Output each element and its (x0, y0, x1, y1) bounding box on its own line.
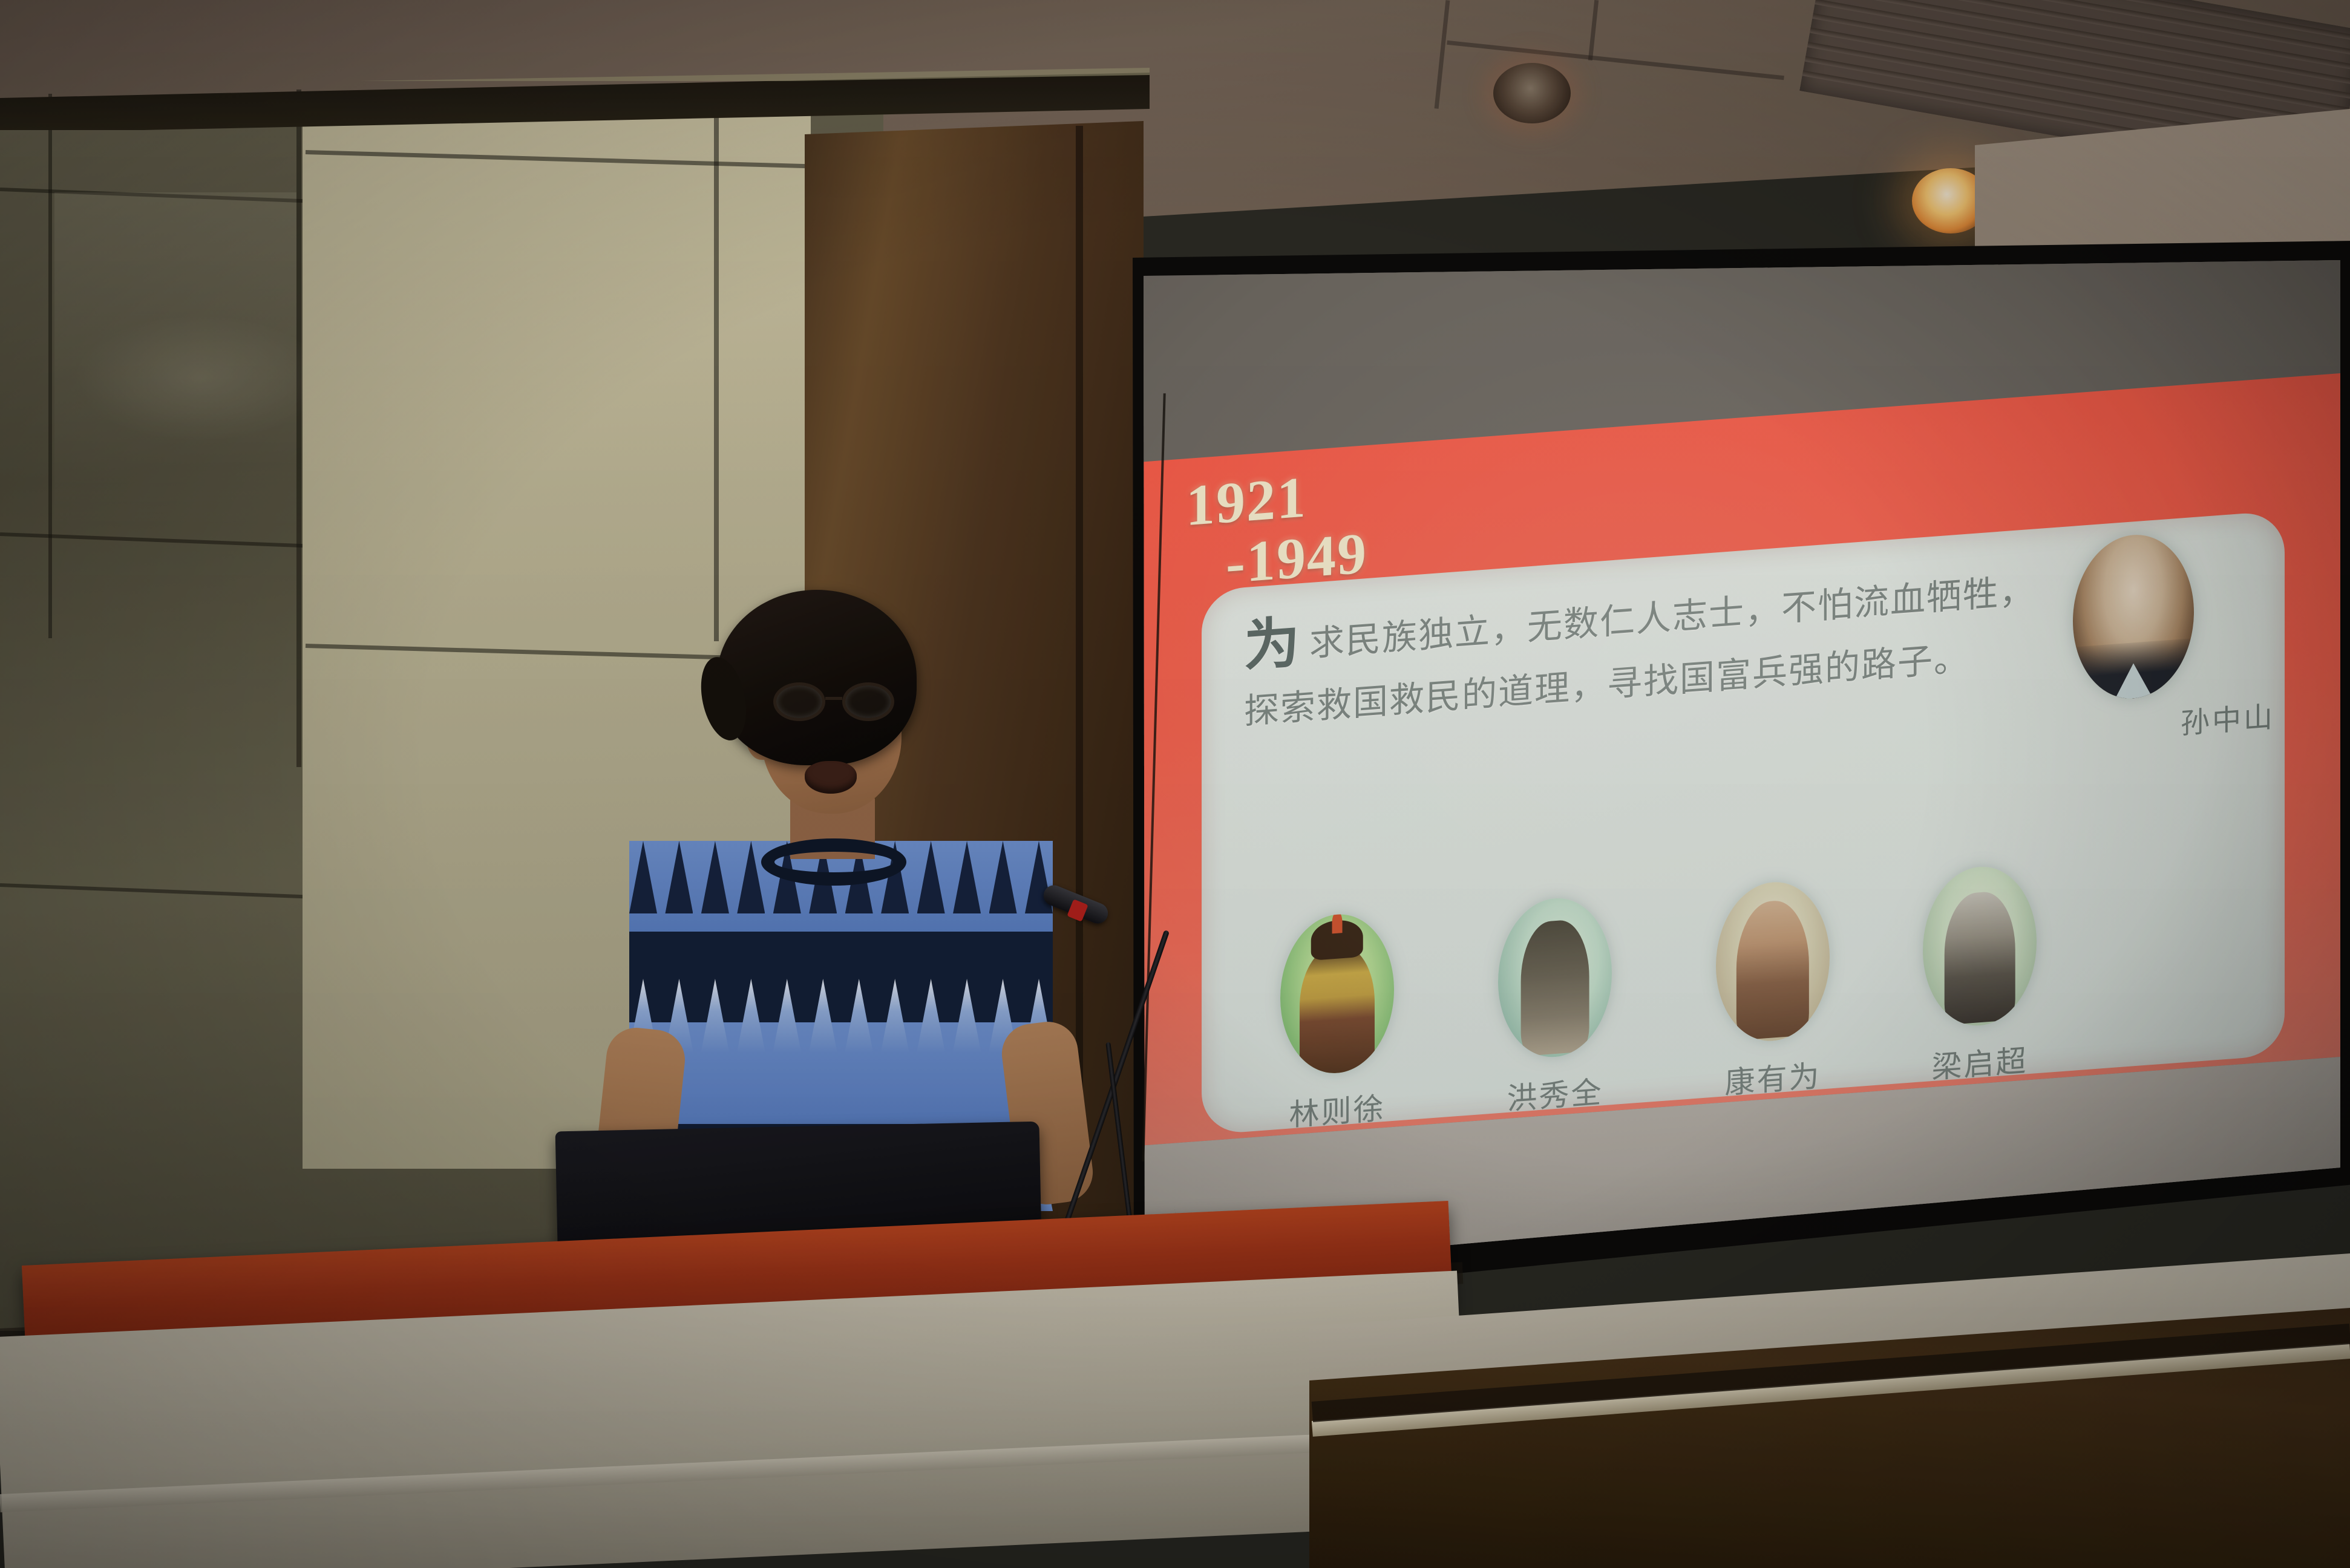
projection-screen-surface: 1921 -1949 为求民族独立，无数仁人志士，不怕流血牺牲， 探索救国救民的… (1139, 260, 2340, 1272)
presenter-hair (717, 590, 917, 765)
wood-column-seam (1076, 126, 1083, 1154)
eyeglasses-icon (773, 682, 894, 722)
slide-body-text: 为求民族独立，无数仁人志士，不怕流血牺牲， 探索救国救民的道理，寻找国富兵强的路… (1244, 549, 2139, 744)
portrait-kang-youwei (1716, 878, 1830, 1045)
slide-body-lead-char: 为 (1244, 612, 1300, 678)
wall-scuff (73, 315, 327, 442)
presenter-mouth (805, 761, 857, 794)
wall-seam (296, 90, 301, 767)
eyeglass-lens-left (773, 682, 825, 721)
portrait-figure (1521, 918, 1589, 1056)
shirt-collar (761, 838, 906, 886)
eyeglass-bridge (825, 697, 842, 700)
shirt-spike-row (629, 979, 1053, 1057)
ceiling-downlight-icon (1493, 63, 1571, 123)
portrait-figure (1736, 898, 1809, 1040)
portrait-figure (1300, 944, 1375, 1076)
wall-seam (714, 97, 719, 641)
portrait-hong-xiuquan (1498, 894, 1612, 1061)
portrait-liang-qichao (1923, 863, 2037, 1030)
slide-content-card: 为求民族独立，无数仁人志士，不怕流血牺牲， 探索救国救民的道理，寻找国富兵强的路… (1202, 511, 2285, 1135)
presentation-slide: 1921 -1949 为求民族独立，无数仁人志士，不怕流血牺牲， 探索救国救民的… (1139, 260, 2340, 1272)
portrait-figure (1945, 890, 2015, 1025)
portrait-row: 林则徐 洪秀全 康有为 梁启超 (1244, 1010, 2188, 1080)
eyeglass-lens-right (842, 682, 894, 721)
portrait-lin-zexu (1280, 910, 1394, 1077)
wall-seam (48, 94, 52, 638)
lecture-hall-photo: 1921 -1949 为求民族独立，无数仁人志士，不怕流血牺牲， 探索救国救民的… (0, 0, 2350, 1568)
portrait-hat-knob (1332, 911, 1343, 934)
portrait-label-sun-yat-sen: 孙中山 (2181, 693, 2275, 742)
slide-year-range: 1921 -1949 (1186, 463, 1367, 598)
